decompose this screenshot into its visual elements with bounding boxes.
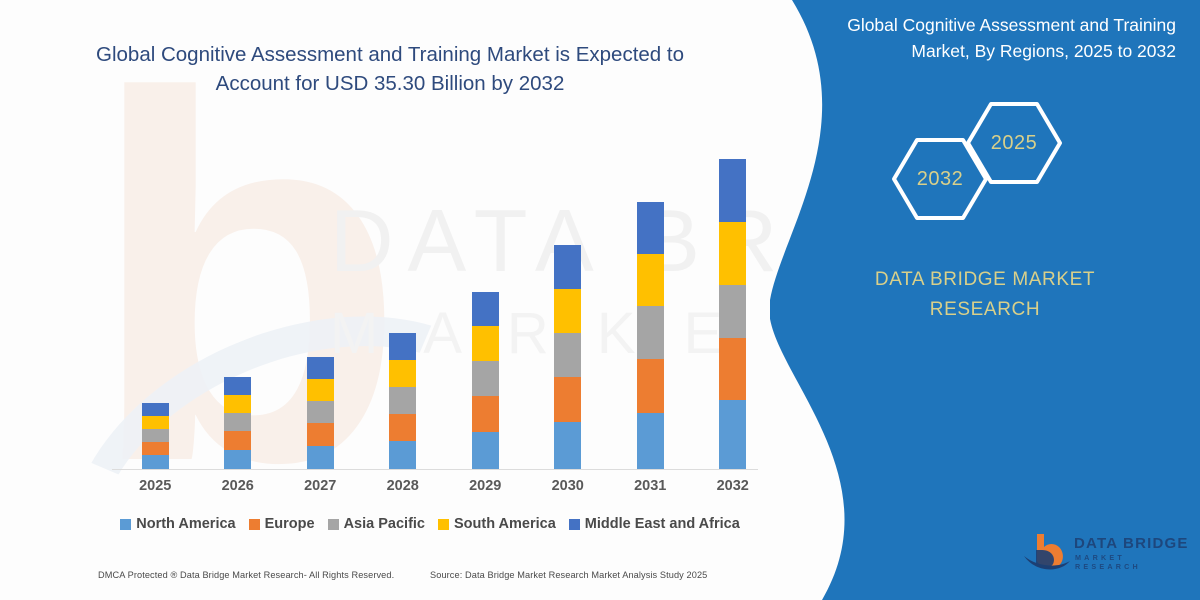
x-axis-tick-labels: 20252026202720282029203020312032: [100, 478, 760, 498]
x-tick-2027: 2027: [290, 478, 350, 494]
bar-segment-north-america[interactable]: [637, 413, 664, 469]
legend-swatch-icon: [569, 519, 580, 530]
bar-segment-asia-pacific[interactable]: [554, 333, 581, 377]
bar-segment-europe[interactable]: [719, 338, 746, 400]
logo-name-line-2: MARKET RESEARCH: [1075, 553, 1192, 571]
data-bridge-logo: DATA BRIDGE MARKET RESEARCH: [1022, 530, 1192, 576]
bar-segment-middle-east-and-africa[interactable]: [719, 159, 746, 222]
bar-segment-middle-east-and-africa[interactable]: [472, 292, 499, 326]
brand-line-2: RESEARCH: [830, 295, 1140, 325]
hexagon-2025-label: 2025: [964, 100, 1064, 186]
chart-legend: North AmericaEuropeAsia PacificSouth Ame…: [100, 512, 760, 536]
bar-2025[interactable]: [142, 403, 169, 469]
bar-2028[interactable]: [389, 333, 416, 469]
hexagon-2025: 2025: [964, 100, 1064, 186]
legend-item-north-america[interactable]: North America: [120, 516, 235, 532]
legend-item-europe[interactable]: Europe: [249, 516, 315, 532]
legend-item-asia-pacific[interactable]: Asia Pacific: [328, 516, 425, 532]
bar-segment-south-america[interactable]: [472, 326, 499, 361]
bar-segment-asia-pacific[interactable]: [224, 413, 251, 431]
bar-segment-middle-east-and-africa[interactable]: [637, 202, 664, 254]
bar-segment-middle-east-and-africa[interactable]: [224, 377, 251, 395]
bar-segment-south-america[interactable]: [142, 416, 169, 429]
x-tick-2026: 2026: [208, 478, 268, 494]
bar-segment-middle-east-and-africa[interactable]: [142, 403, 169, 416]
bar-segment-north-america[interactable]: [224, 450, 251, 469]
bar-segment-europe[interactable]: [224, 431, 251, 450]
bar-2027[interactable]: [307, 357, 334, 469]
bar-segment-north-america[interactable]: [389, 441, 416, 469]
bar-segment-asia-pacific[interactable]: [719, 285, 746, 338]
legend-label: Asia Pacific: [344, 516, 425, 532]
brand-line-1: DATA BRIDGE MARKET: [830, 265, 1140, 295]
bar-2032[interactable]: [719, 159, 746, 469]
x-tick-2030: 2030: [538, 478, 598, 494]
bar-segment-north-america[interactable]: [472, 432, 499, 469]
bar-segment-asia-pacific[interactable]: [472, 361, 499, 396]
legend-item-middle-east-and-africa[interactable]: Middle East and Africa: [569, 516, 740, 532]
legend-label: Middle East and Africa: [585, 516, 740, 532]
legend-swatch-icon: [249, 519, 260, 530]
x-axis-line: [112, 469, 758, 470]
bar-segment-asia-pacific[interactable]: [307, 401, 334, 423]
chart-title: Global Cognitive Assessment and Training…: [60, 40, 720, 98]
bar-segment-south-america[interactable]: [389, 360, 416, 387]
legend-swatch-icon: [438, 519, 449, 530]
bar-segment-middle-east-and-africa[interactable]: [389, 333, 416, 360]
bar-segment-middle-east-and-africa[interactable]: [554, 245, 581, 289]
legend-swatch-icon: [328, 519, 339, 530]
logo-name-line-1: DATA BRIDGE: [1074, 535, 1189, 552]
bar-segment-middle-east-and-africa[interactable]: [307, 357, 334, 379]
bar-segment-south-america[interactable]: [307, 379, 334, 401]
footer-copyright: DMCA Protected ® Data Bridge Market Rese…: [98, 570, 394, 580]
bar-segment-asia-pacific[interactable]: [637, 306, 664, 359]
bar-segment-south-america[interactable]: [719, 222, 746, 285]
legend-label: North America: [136, 516, 235, 532]
x-tick-2025: 2025: [125, 478, 185, 494]
stacked-bar-chart: [100, 130, 760, 470]
x-tick-2028: 2028: [373, 478, 433, 494]
bar-segment-north-america[interactable]: [307, 446, 334, 469]
bar-2031[interactable]: [637, 202, 664, 469]
x-tick-2031: 2031: [620, 478, 680, 494]
bar-segment-north-america[interactable]: [719, 400, 746, 469]
panel-title: Global Cognitive Assessment and Training…: [846, 12, 1176, 64]
bar-segment-north-america[interactable]: [142, 455, 169, 469]
bar-segment-europe[interactable]: [637, 359, 664, 413]
bar-2026[interactable]: [224, 377, 251, 469]
bar-segment-south-america[interactable]: [554, 289, 581, 333]
infographic-canvas: b DATA BRIDGE M A R K E T R E S E A R C …: [0, 0, 1200, 600]
x-tick-2032: 2032: [703, 478, 763, 494]
x-tick-2029: 2029: [455, 478, 515, 494]
bar-segment-asia-pacific[interactable]: [389, 387, 416, 414]
right-panel: Global Cognitive Assessment and Training…: [770, 0, 1200, 600]
bar-2029[interactable]: [472, 292, 499, 469]
bar-segment-north-america[interactable]: [554, 422, 581, 469]
bar-segment-europe[interactable]: [472, 396, 499, 432]
legend-label: South America: [454, 516, 556, 532]
hexagon-group: 2032 2025: [890, 100, 1090, 225]
legend-item-south-america[interactable]: South America: [438, 516, 556, 532]
legend-label: Europe: [265, 516, 315, 532]
bar-segment-europe[interactable]: [389, 414, 416, 441]
bar-2030[interactable]: [554, 245, 581, 469]
bar-segment-europe[interactable]: [554, 377, 581, 422]
bar-segment-asia-pacific[interactable]: [142, 429, 169, 442]
bar-segment-south-america[interactable]: [224, 395, 251, 413]
bar-segment-europe[interactable]: [142, 442, 169, 455]
bar-segment-europe[interactable]: [307, 423, 334, 446]
brand-name: DATA BRIDGE MARKET RESEARCH: [830, 265, 1140, 325]
bar-segment-south-america[interactable]: [637, 254, 664, 306]
footer-source: Source: Data Bridge Market Research Mark…: [430, 570, 707, 580]
legend-swatch-icon: [120, 519, 131, 530]
